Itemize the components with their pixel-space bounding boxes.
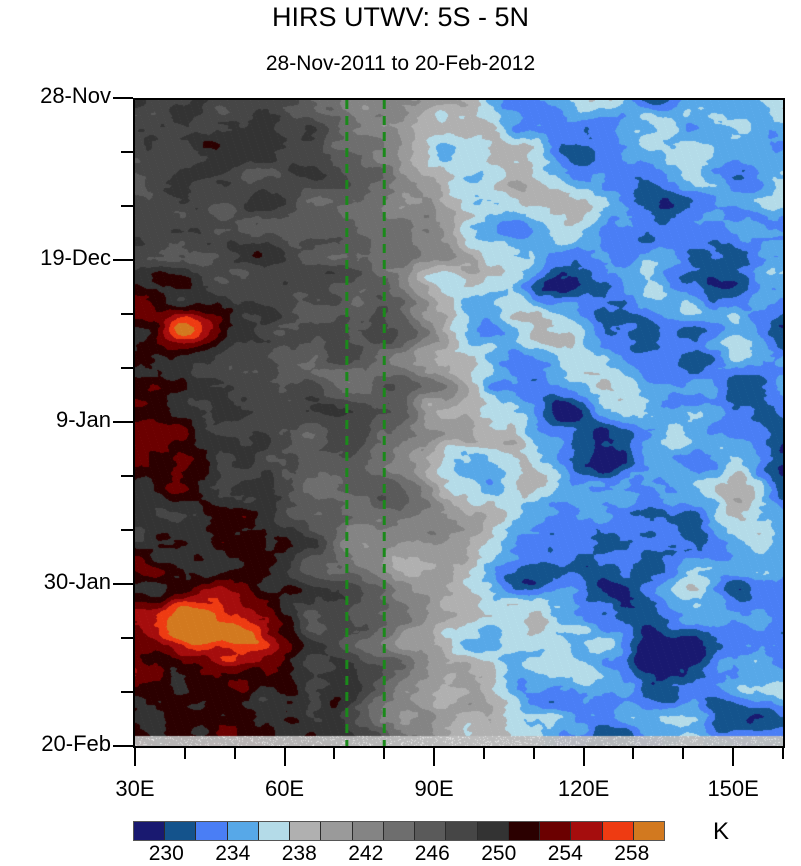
colorbar-tick-label: 254 [530, 842, 600, 866]
colorbar-swatch[interactable] [228, 822, 259, 840]
y-tick-label: 30-Jan [0, 569, 111, 595]
x-tick-label: 60E [240, 776, 330, 802]
x-tick-label: 90E [389, 776, 479, 802]
x-tick-minor [383, 748, 385, 759]
page-subtitle: 28-Nov-2011 to 20-Feb-2012 [0, 52, 801, 76]
colorbar-swatch[interactable] [196, 822, 227, 840]
colorbar-swatch[interactable] [603, 822, 634, 840]
x-tick-major [134, 748, 136, 766]
y-tick-minor [121, 475, 133, 477]
colorbar-tick-label: 238 [264, 842, 334, 866]
colorbar-swatch[interactable] [353, 822, 384, 840]
y-tick-minor [121, 691, 133, 693]
x-tick-major [284, 748, 286, 766]
x-tick-minor [533, 748, 535, 759]
colorbar-swatch[interactable] [321, 822, 352, 840]
colorbar-tick-label: 250 [464, 842, 534, 866]
y-tick-minor [121, 637, 133, 639]
x-tick-minor [632, 748, 634, 759]
y-tick-major [113, 583, 133, 585]
y-tick-minor [121, 313, 133, 315]
colorbar-tick-label: 246 [397, 842, 467, 866]
y-tick-major [113, 259, 133, 261]
colorbar-swatch[interactable] [478, 822, 509, 840]
x-tick-major [732, 748, 734, 766]
x-tick-major [433, 748, 435, 766]
y-tick-minor [121, 151, 133, 153]
colorbar-swatch[interactable] [415, 822, 446, 840]
colorbar-tick-label: 234 [198, 842, 268, 866]
y-tick-major [113, 745, 133, 747]
hovmoller-plot [133, 98, 785, 748]
colorbar-units-label: K [713, 818, 729, 846]
x-tick-minor [333, 748, 335, 759]
x-tick-minor [184, 748, 186, 759]
y-tick-label: 28-Nov [0, 83, 111, 109]
meridian-overlay [135, 100, 783, 746]
y-tick-minor [121, 205, 133, 207]
colorbar-swatch[interactable] [571, 822, 602, 840]
y-tick-label: 19-Dec [0, 245, 111, 271]
colorbar-swatch[interactable] [634, 822, 664, 840]
y-tick-major [113, 421, 133, 423]
x-tick-label: 120E [539, 776, 629, 802]
colorbar-swatch[interactable] [446, 822, 477, 840]
page-title: HIRS UTWV: 5S - 5N [0, 2, 801, 33]
y-tick-label: 9-Jan [0, 407, 111, 433]
x-tick-label: 150E [688, 776, 778, 802]
x-tick-major [583, 748, 585, 766]
colorbar-tick-label: 242 [331, 842, 401, 866]
x-tick-label: 30E [90, 776, 180, 802]
x-tick-minor [234, 748, 236, 759]
colorbar-tick-label: 230 [131, 842, 201, 866]
colorbar-swatch[interactable] [134, 822, 165, 840]
colorbar-swatch[interactable] [540, 822, 571, 840]
colorbar-tick-label: 258 [597, 842, 667, 866]
colorbar-swatch[interactable] [509, 822, 540, 840]
x-tick-minor [483, 748, 485, 759]
colorbar-swatch[interactable] [384, 822, 415, 840]
x-tick-minor [682, 748, 684, 759]
y-tick-major [113, 97, 133, 99]
colorbar-swatch[interactable] [259, 822, 290, 840]
y-tick-label: 20-Feb [0, 731, 111, 757]
x-tick-minor [782, 748, 784, 759]
y-tick-minor [121, 529, 133, 531]
colorbar-swatch[interactable] [165, 822, 196, 840]
y-tick-minor [121, 367, 133, 369]
colorbar-swatch[interactable] [290, 822, 321, 840]
colorbar[interactable] [133, 821, 665, 841]
